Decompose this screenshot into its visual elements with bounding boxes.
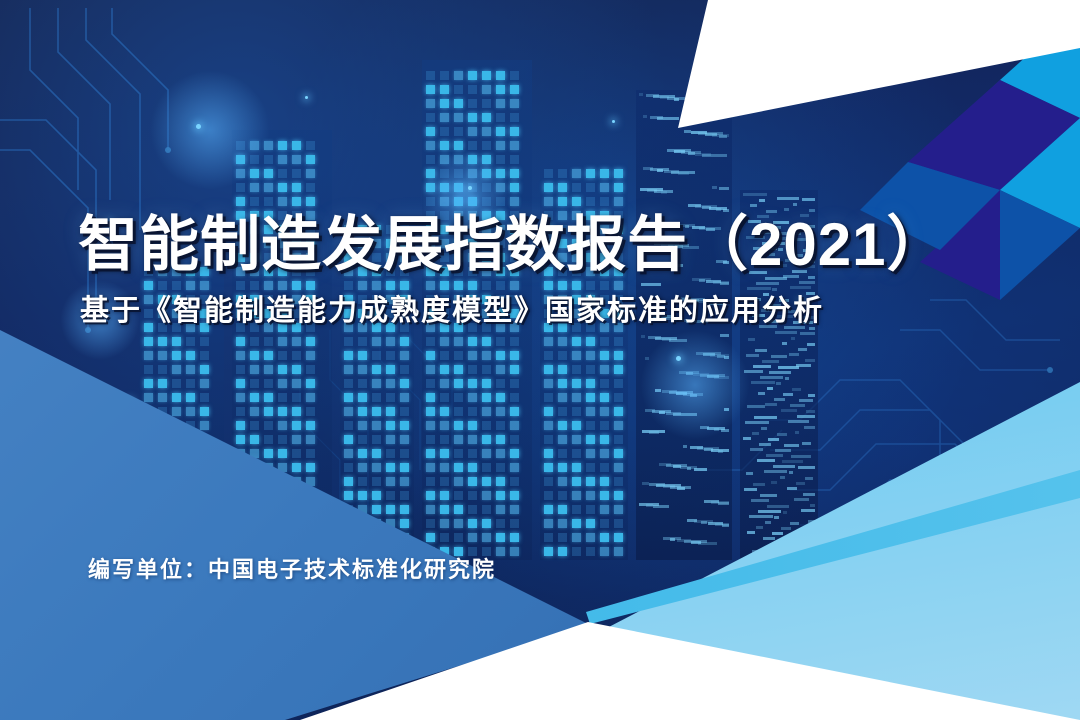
report-cover: 智能制造发展指数报告（2021） 基于《智能制造能力成熟度模型》国家标准的应用分… bbox=[0, 0, 1080, 720]
